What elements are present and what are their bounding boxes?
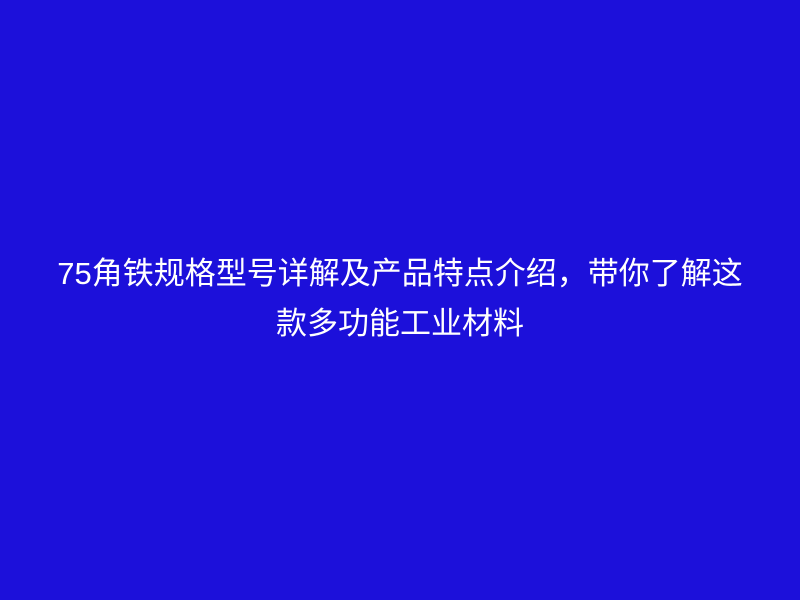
title-block: 75角铁规格型号详解及产品特点介绍，带你了解这款多功能工业材料 bbox=[50, 249, 750, 349]
page-title: 75角铁规格型号详解及产品特点介绍，带你了解这款多功能工业材料 bbox=[50, 249, 750, 349]
title-card-canvas: 75角铁规格型号详解及产品特点介绍，带你了解这款多功能工业材料 bbox=[0, 0, 800, 600]
